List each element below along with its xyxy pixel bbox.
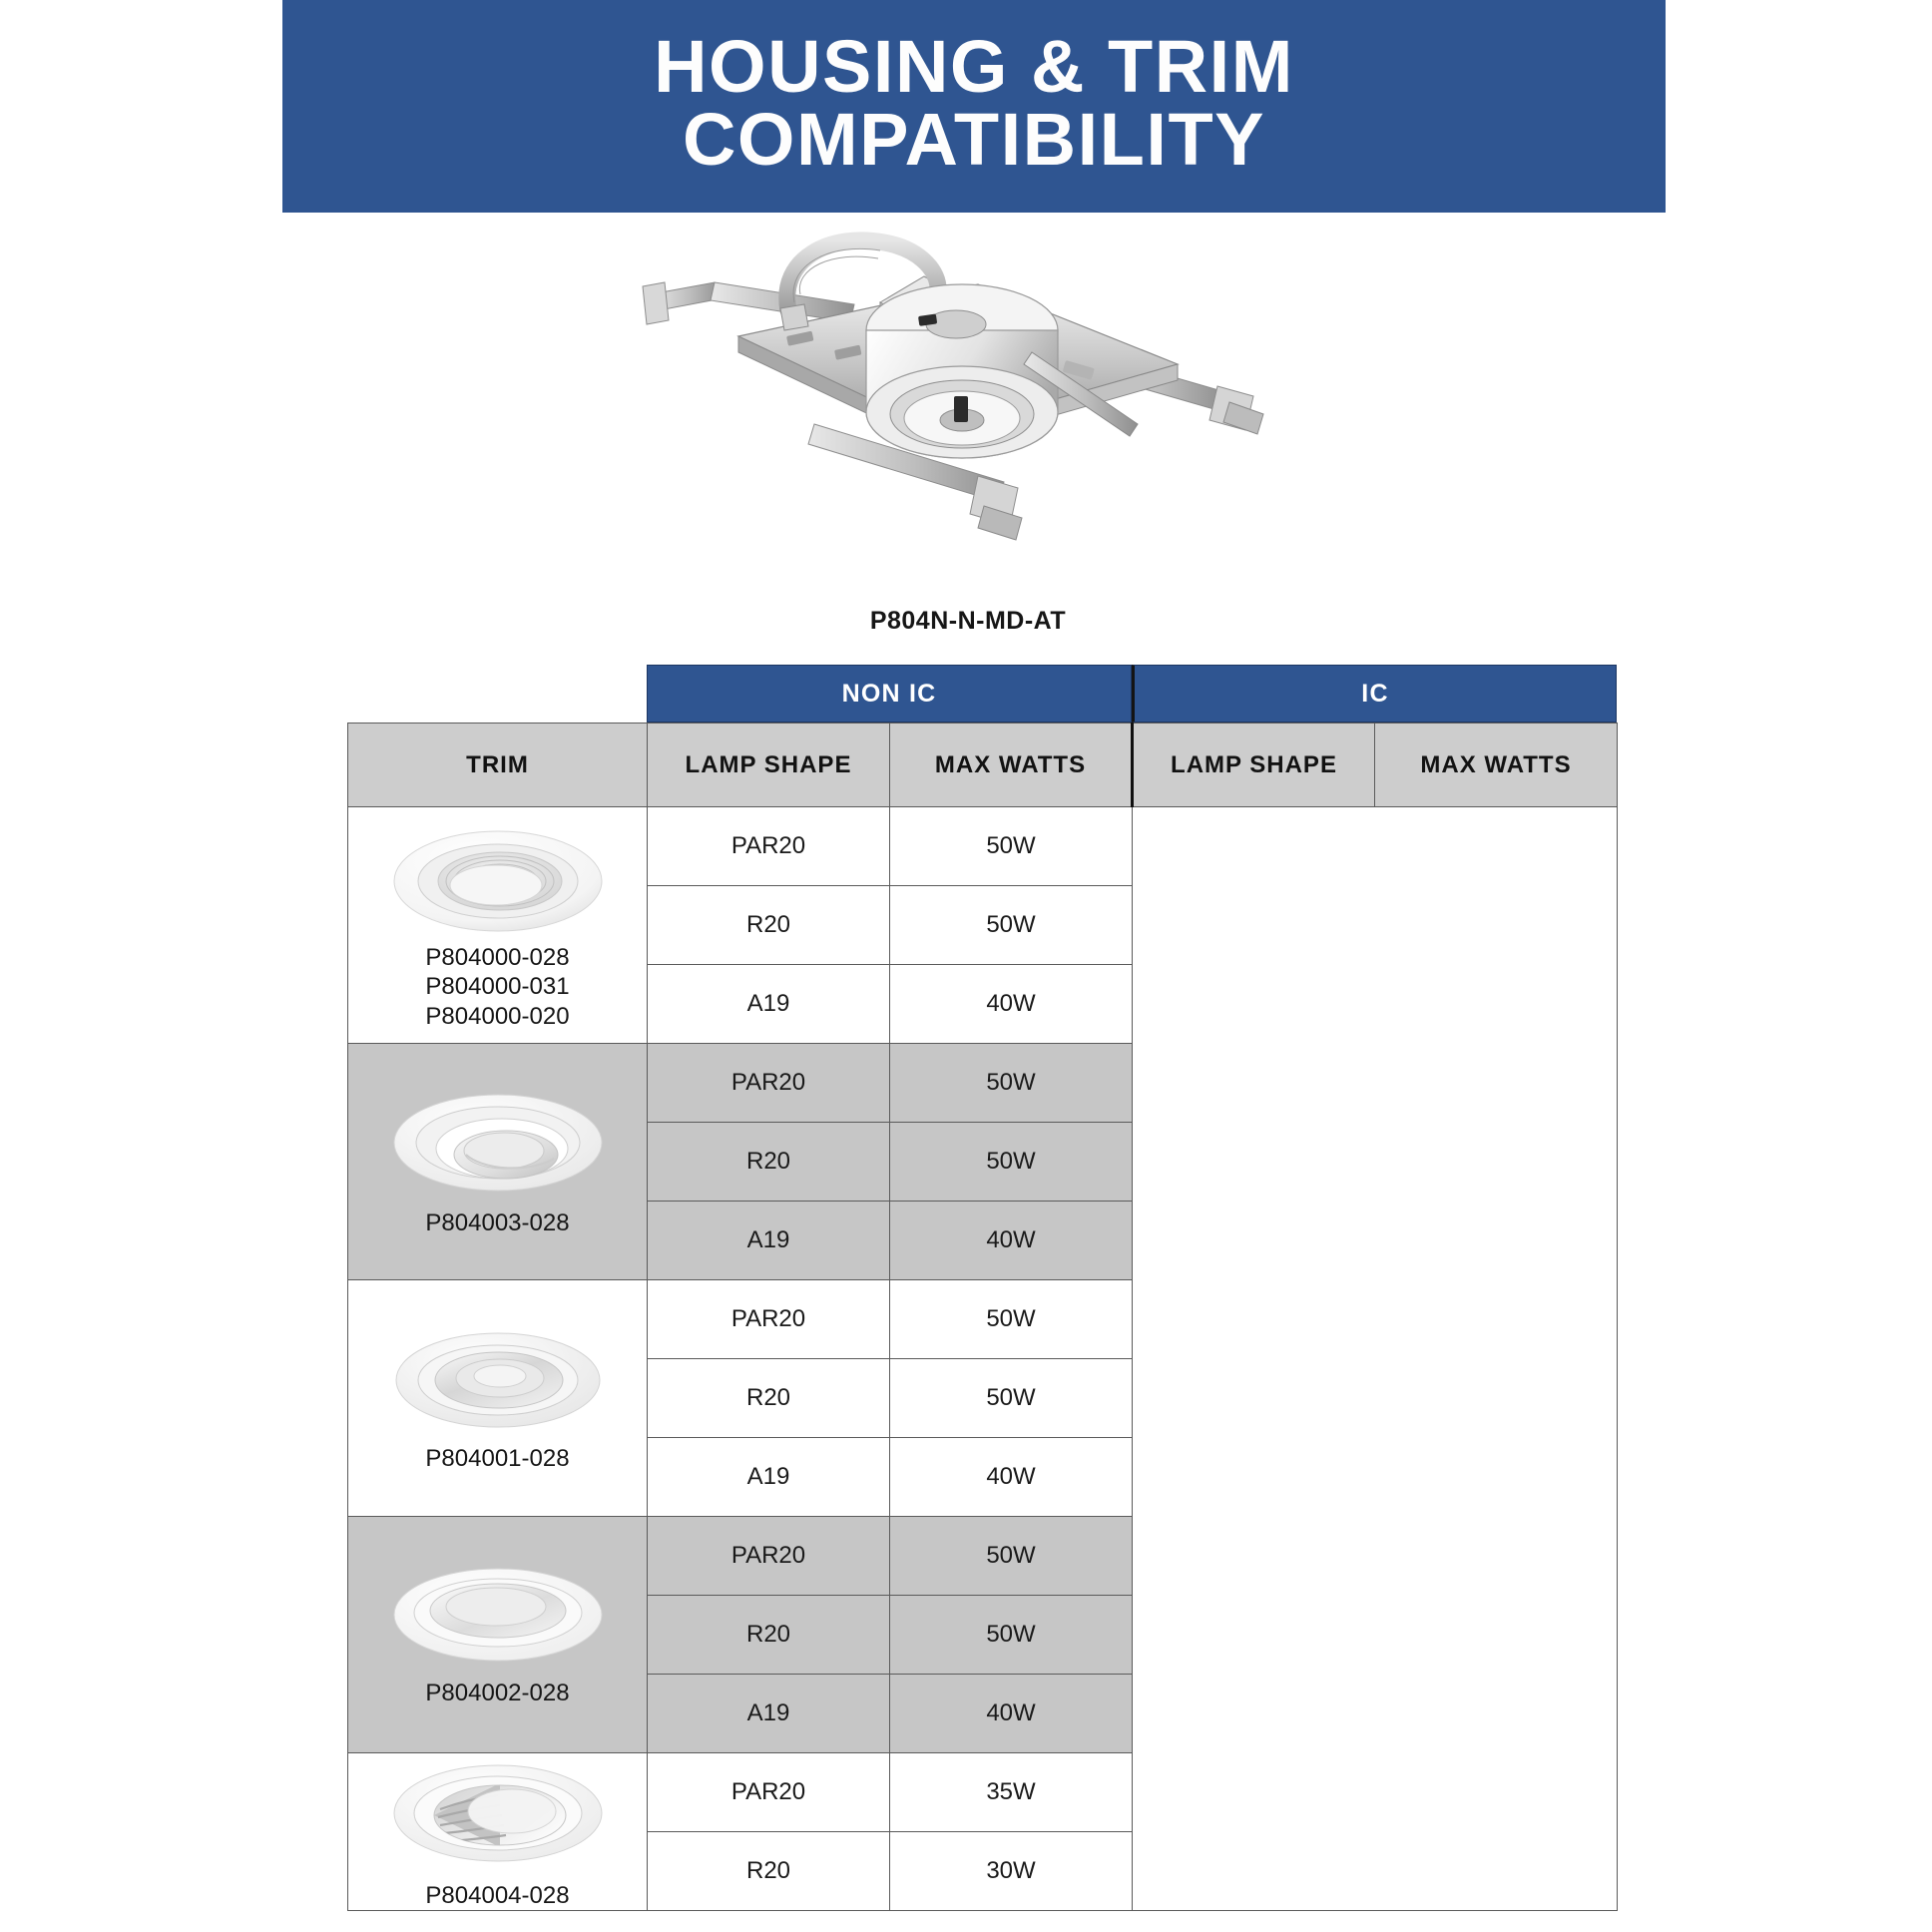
recessed-housing-photo [619,225,1317,564]
cell-max-watts: 40W [890,1438,1133,1517]
cell-max-watts: 50W [890,1044,1133,1123]
col-header-ic-max-watts: MAX WATTS [1375,724,1618,807]
cell-lamp-shape: R20 [648,1123,890,1202]
cell-lamp-shape: PAR20 [648,1517,890,1596]
cell-max-watts: 50W [890,1280,1133,1359]
cone-reflector-trim-white-icon [348,1322,647,1440]
cell-max-watts: 30W [890,1832,1133,1911]
cell-max-watts: 40W [890,1202,1133,1280]
compatibility-grid: TRIM LAMP SHAPE MAX WATTS LAMP SHAPE MAX… [347,723,1618,1911]
housing-model-label: P804N-N-MD-AT [619,607,1317,636]
col-header-ic-lamp-shape: LAMP SHAPE [1133,724,1375,807]
cell-max-watts: 50W [890,886,1133,965]
eyeball-trim-white-icon [348,1085,647,1205]
page-header-banner: HOUSING & TRIM COMPATIBILITY [282,0,1666,213]
col-header-nonic-lamp-shape: LAMP SHAPE [648,724,890,807]
cell-lamp-shape: PAR20 [648,1753,890,1832]
cell-max-watts: 50W [890,1359,1133,1438]
cell-lamp-shape: PAR20 [648,1280,890,1359]
cell-lamp-shape: PAR20 [648,807,890,886]
page-title: HOUSING & TRIM COMPATIBILITY [654,31,1294,176]
trim-cell-3: P804002-028 [348,1517,648,1753]
trim-cell-1: P804003-028 [348,1044,648,1280]
table-row: P804000-028 P804000-031 P804000-020 PAR2… [348,807,1618,886]
table-group-header-row: NON IC IC [647,665,1617,723]
cell-lamp-shape: PAR20 [648,1044,890,1123]
table-column-header-row: TRIM LAMP SHAPE MAX WATTS LAMP SHAPE MAX… [348,724,1618,807]
cell-lamp-shape: A19 [648,965,890,1044]
trim-model-codes: P804002-028 [348,1679,647,1707]
cell-lamp-shape: A19 [648,1202,890,1280]
cell-max-watts: 40W [890,965,1133,1044]
trim-model-codes: P804003-028 [348,1208,647,1237]
ic-unavailable-block [1133,807,1618,1911]
col-header-nonic-max-watts: MAX WATTS [890,724,1133,807]
cell-max-watts: 50W [890,1596,1133,1675]
cell-lamp-shape: A19 [648,1438,890,1517]
trim-cell-0: P804000-028 P804000-031 P804000-020 [348,807,648,1044]
group-header-ic: IC [1132,665,1617,723]
cell-max-watts: 50W [890,1123,1133,1202]
cell-lamp-shape: R20 [648,1832,890,1911]
cell-max-watts: 50W [890,1517,1133,1596]
trim-model-codes: P804001-028 [348,1444,647,1473]
cell-lamp-shape: R20 [648,1359,890,1438]
shallow-reflector-trim-white-icon [348,1561,647,1675]
baffle-trim-white-icon [348,819,647,939]
cell-lamp-shape: R20 [648,1596,890,1675]
compatibility-table: NON IC IC TRIM LAMP SHAPE MAX WATTS LAMP… [347,665,1617,1932]
cell-max-watts: 50W [890,807,1133,886]
cell-max-watts: 35W [890,1753,1133,1832]
trim-cell-4: P804004-028 [348,1753,648,1911]
cell-lamp-shape: A19 [648,1675,890,1753]
trim-model-codes: P804004-028 [348,1881,647,1910]
cell-max-watts: 40W [890,1675,1133,1753]
trim-cell-2: P804001-028 [348,1280,648,1517]
cell-lamp-shape: R20 [648,886,890,965]
wall-wash-baffle-trim-white-icon [348,1753,647,1877]
trim-model-codes: P804000-028 P804000-031 P804000-020 [348,943,647,1031]
col-header-trim: TRIM [348,724,648,807]
group-header-non-ic: NON IC [647,665,1132,723]
